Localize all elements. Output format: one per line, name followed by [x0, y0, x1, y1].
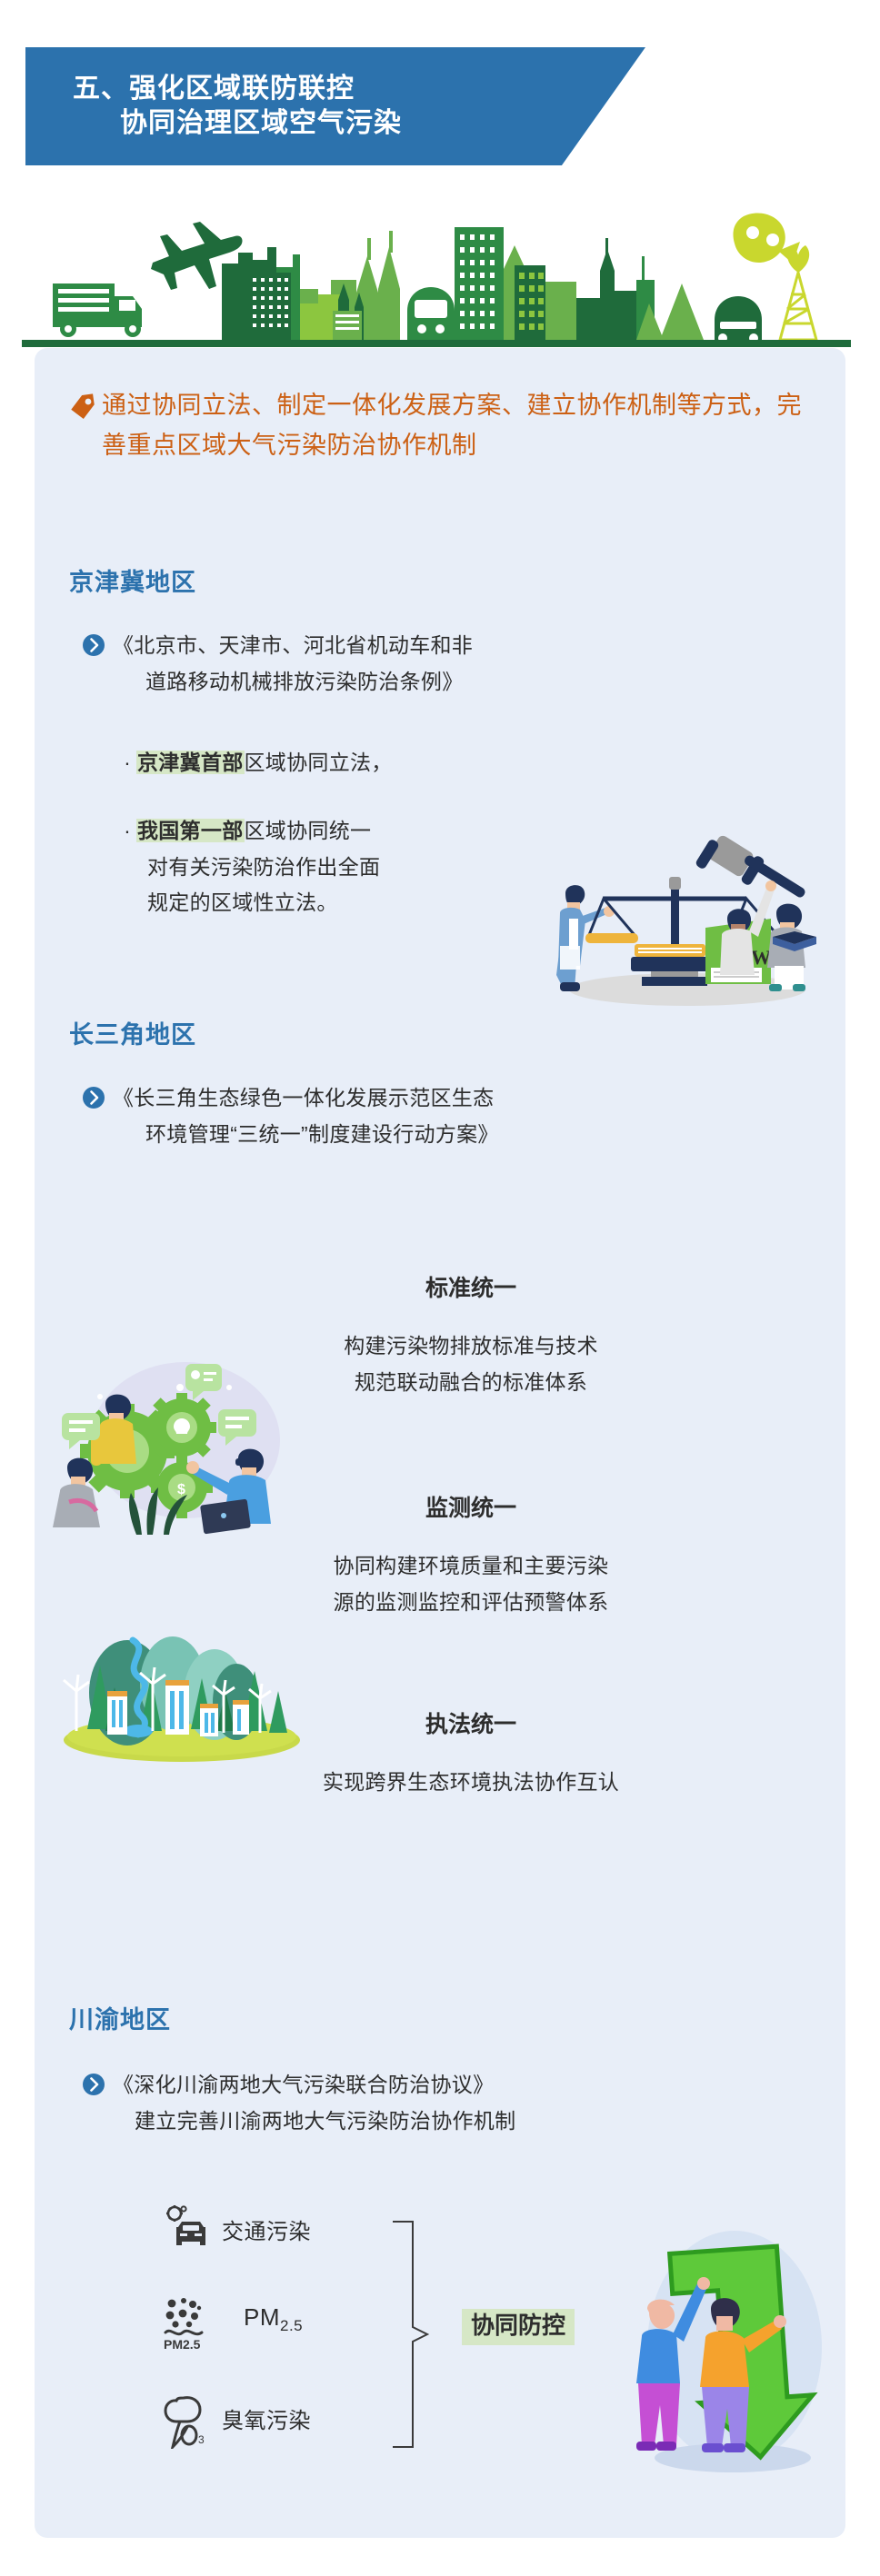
bullet-highlight: 京津冀首部	[136, 751, 245, 774]
unified-label-standard: 标准统一	[416, 1275, 525, 1303]
two-people-green-arrow-illustration	[616, 2211, 844, 2483]
bullet-marker: ·	[118, 813, 136, 850]
pollution-label-pm25: PM2.5	[244, 2303, 303, 2335]
bullet-marker: ·	[118, 745, 136, 781]
bullet-jingjinji-0: · 京津冀首部区域协同立法，	[118, 745, 627, 781]
unified-desc-enforcement: 实现跨界生态环境执法协作互认	[198, 1764, 744, 1800]
document-jingjinji-0: 《北京市、天津市、河北省机动车和非 道路移动机械排放污染防治条例》	[82, 628, 645, 700]
bullet-rest: 区域协同立法，	[245, 751, 393, 774]
document-line-2: 建立完善川渝两地大气污染防治协作机制	[135, 2104, 773, 2140]
wind-turbine-icon	[780, 273, 816, 340]
car-icon	[715, 296, 762, 343]
chevron-right-circle-icon	[82, 633, 105, 657]
document-line-2: 环境管理“三统一”制度建设行动方案》	[145, 1117, 718, 1153]
green-city-skyline	[0, 202, 880, 347]
truck-icon	[53, 283, 142, 337]
lead-paragraph: 通过协同立法、制定一体化发展方案、建立协作机制等方式，完善重点区域大气污染防治协…	[67, 386, 809, 465]
svg-text:PM2.5: PM2.5	[164, 2337, 201, 2352]
region-title-yangtze: 长三角地区	[69, 1015, 196, 1050]
document-line-1: 《北京市、天津市、河北省机动车和非	[113, 628, 473, 664]
tag-icon	[67, 392, 98, 423]
unified-item-enforcement: 执法统一	[235, 1711, 707, 1739]
content-card: 通过协同立法、制定一体化发展方案、建立协作机制等方式，完善重点区域大气污染防治协…	[35, 348, 845, 2538]
bike-icon	[733, 213, 800, 264]
pollution-label-traffic: 交通污染	[222, 2213, 311, 2245]
document-line-2: 道路移动机械排放污染防治条例》	[145, 664, 645, 701]
document-yangtze-0: 《长三角生态绿色一体化发展示范区生态 环境管理“三统一”制度建设行动方案》	[82, 1080, 718, 1152]
car-emission-icon	[160, 2203, 213, 2254]
chevron-right-circle-icon	[82, 1086, 105, 1109]
document-line-1: 《深化川渝两地大气污染联合防治协议》	[113, 2067, 494, 2104]
region-title-chuanyu: 川渝地区	[69, 2000, 171, 2035]
green-landscape-city-illustration	[55, 1593, 309, 1765]
bullet-rest: 区域协同统一	[245, 819, 372, 842]
pm25-icon: PM2.5	[160, 2294, 213, 2345]
desc-line-1: 协同构建环境质量和主要污染	[216, 1547, 725, 1584]
pollution-item-ozone: 3 臭氧污染	[160, 2392, 311, 2443]
header-title-line1: 五、强化区域联防联控	[73, 72, 645, 106]
brace-connector	[391, 2220, 433, 2453]
region-title-jingjinji: 京津冀地区	[69, 562, 196, 598]
chevron-right-circle-icon	[82, 2073, 105, 2096]
lead-text: 通过协同立法、制定一体化发展方案、建立协作机制等方式，完善重点区域大气污染防治协…	[102, 386, 809, 465]
svg-text:$: $	[177, 1482, 185, 1497]
unified-label-enforcement: 执法统一	[416, 1711, 525, 1739]
pollution-item-pm25: PM2.5 PM2.5	[160, 2294, 303, 2345]
svg-text:3: 3	[198, 2433, 205, 2446]
law-scales-gavel-illustration: LAW	[533, 830, 824, 1011]
unified-item-standard: 标准统一	[235, 1275, 707, 1303]
ozone-icon: 3	[160, 2392, 213, 2443]
desc-line-1: 实现跨界生态环境执法协作互认	[198, 1764, 744, 1800]
header-banner: 五、强化区域联防联控 协同治理区域空气污染	[25, 47, 645, 165]
bullet-highlight: 我国第一部	[136, 819, 245, 842]
header-title-line2: 协同治理区域空气污染	[73, 106, 645, 141]
coordinated-control-label: 协同防控	[462, 2309, 575, 2345]
pollution-label-ozone: 臭氧污染	[222, 2402, 311, 2434]
document-chuanyu-0: 《深化川渝两地大气污染联合防治协议》 建立完善川渝两地大气污染防治协作机制	[82, 2067, 773, 2139]
unified-label-monitoring: 监测统一	[416, 1495, 525, 1523]
train-icon	[407, 287, 455, 340]
unified-item-monitoring: 监测统一	[235, 1495, 707, 1523]
infographic-page: 五、强化区域联防联控 协同治理区域空气污染	[0, 0, 880, 2576]
pollution-item-traffic: 交通污染	[160, 2203, 311, 2254]
document-line-1: 《长三角生态绿色一体化发展示范区生态	[113, 1080, 494, 1117]
